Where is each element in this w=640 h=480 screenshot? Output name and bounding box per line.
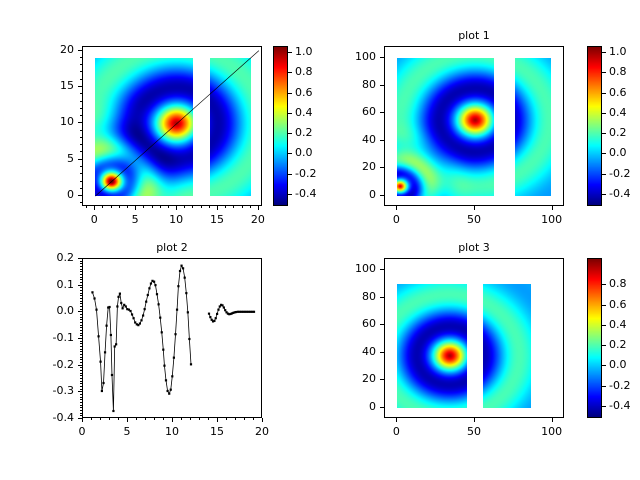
ytick-major [380, 379, 384, 380]
colorbar-tick [602, 305, 606, 306]
image-patch-left-plot3 [397, 284, 467, 408]
xtick-label: 0 [366, 425, 426, 438]
colorbar-tick-label: -0.2 [609, 379, 640, 392]
ytick-major [380, 297, 384, 298]
ytick-major [380, 407, 384, 408]
colorbar-tick [602, 365, 606, 366]
ytick-major [380, 324, 384, 325]
image-canvas [483, 284, 531, 408]
colorbar-tick [602, 386, 606, 387]
colorbar-tick [602, 284, 606, 285]
image-canvas [397, 284, 467, 408]
colorbar-plot3 [587, 258, 602, 418]
ytick-label: 60 [310, 317, 376, 330]
ytick-label: 40 [310, 345, 376, 358]
colorbar-gradient [588, 259, 601, 417]
colorbar-tick [602, 406, 606, 407]
colorbar-tick-label: 0.2 [609, 338, 640, 351]
xtick-major [474, 418, 475, 422]
ytick-major [380, 352, 384, 353]
axes-frame-plot3 [384, 258, 564, 418]
axes-title-plot3: plot 3 [384, 241, 564, 254]
xtick-major [396, 418, 397, 422]
colorbar-tick-label: -0.4 [609, 399, 640, 412]
colorbar-tick-label: 0.4 [609, 318, 640, 331]
ytick-label: 0 [310, 400, 376, 413]
ytick-label: 80 [310, 290, 376, 303]
ytick-major [380, 269, 384, 270]
ytick-label: 100 [310, 262, 376, 275]
image-patch-right-plot3 [483, 284, 531, 408]
subplot-bottom-right: plot 3050100020406080100-0.4-0.20.00.20.… [0, 0, 640, 480]
colorbar-tick [602, 345, 606, 346]
xtick-label: 50 [444, 425, 504, 438]
ytick-label: 20 [310, 372, 376, 385]
colorbar-tick-label: 0.0 [609, 358, 640, 371]
colorbar-tick-label: 0.6 [609, 298, 640, 311]
colorbar-tick [602, 325, 606, 326]
colorbar-tick-label: 0.8 [609, 277, 640, 290]
figure-canvas: 0510152005101520-0.4-0.20.00.20.40.60.81… [0, 0, 640, 480]
xtick-major [552, 418, 553, 422]
xtick-label: 100 [522, 425, 582, 438]
